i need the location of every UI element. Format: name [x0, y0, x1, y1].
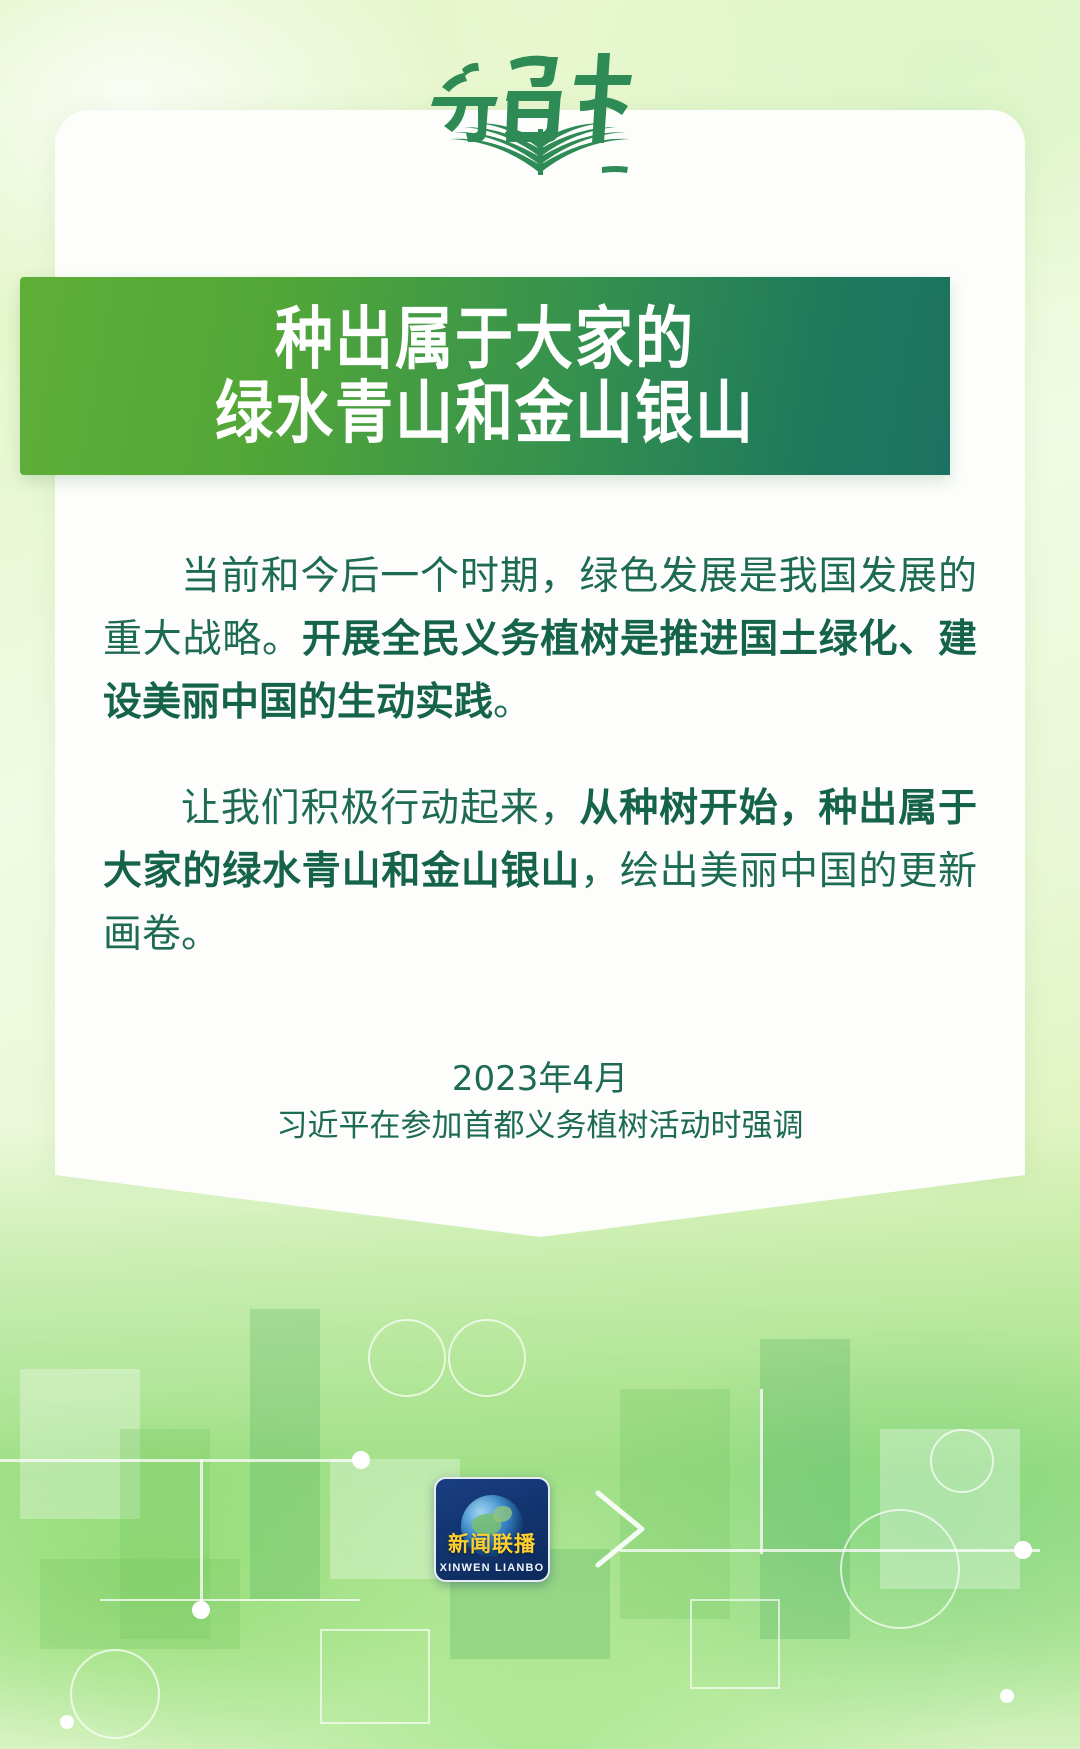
deco-ring: [70, 1649, 160, 1739]
title-line-1: 种出属于大家的: [275, 298, 695, 379]
text-run: 让我们积极行动起来，: [181, 786, 579, 831]
deco-dot: [1000, 1689, 1014, 1703]
deco-dot: [1014, 1541, 1032, 1559]
deco-block: [250, 1309, 320, 1599]
deco-ring: [930, 1429, 994, 1493]
deco-line: [100, 1599, 360, 1601]
chevron-right-icon: [548, 1487, 592, 1571]
deco-line: [0, 1459, 360, 1462]
deco-line: [620, 1549, 1040, 1552]
text-run: 。: [493, 680, 532, 725]
news-logo-cn: 新闻联播: [436, 1528, 548, 1558]
attribution: 2023年4月 习近平在参加首都义务植树活动时强调: [55, 1055, 1025, 1149]
xuexika-logo: 学习卡: [0, 30, 1080, 190]
deco-ring: [448, 1319, 526, 1397]
deco-ring: [840, 1509, 960, 1629]
deco-outline: [690, 1599, 780, 1689]
deco-block: [40, 1559, 240, 1649]
deco-line: [200, 1459, 203, 1609]
deco-outline: [320, 1629, 430, 1724]
deco-line: [760, 1389, 763, 1554]
paragraph-1: 当前和今后一个时期，绿色发展是我国发展的重大战略。开展全民义务植树是推进国土绿化…: [103, 545, 977, 735]
deco-dot: [192, 1601, 210, 1619]
quote-body: 当前和今后一个时期，绿色发展是我国发展的重大战略。开展全民义务植树是推进国土绿化…: [55, 545, 1025, 966]
xinwen-lianbo-logo[interactable]: 新闻联播 XINWEN LIANBO: [434, 1477, 550, 1582]
paragraph-2: 让我们积极行动起来，从种树开始，种出属于大家的绿水青山和金山银山，绘出美丽中国的…: [103, 777, 977, 967]
deco-ring: [368, 1319, 446, 1397]
news-logo-en: XINWEN LIANBO: [436, 1562, 548, 1574]
attribution-date: 2023年4月: [55, 1055, 1025, 1104]
deco-block: [760, 1339, 850, 1639]
deco-dot: [60, 1715, 74, 1729]
title-line-2: 绿水青山和金山银山: [215, 373, 755, 454]
deco-dot: [352, 1451, 370, 1469]
attribution-source: 习近平在参加首都义务植树活动时强调: [55, 1104, 1025, 1149]
card-bottom-notch: [55, 1175, 1025, 1237]
title-banner: 种出属于大家的 绿水青山和金山银山: [20, 277, 950, 475]
